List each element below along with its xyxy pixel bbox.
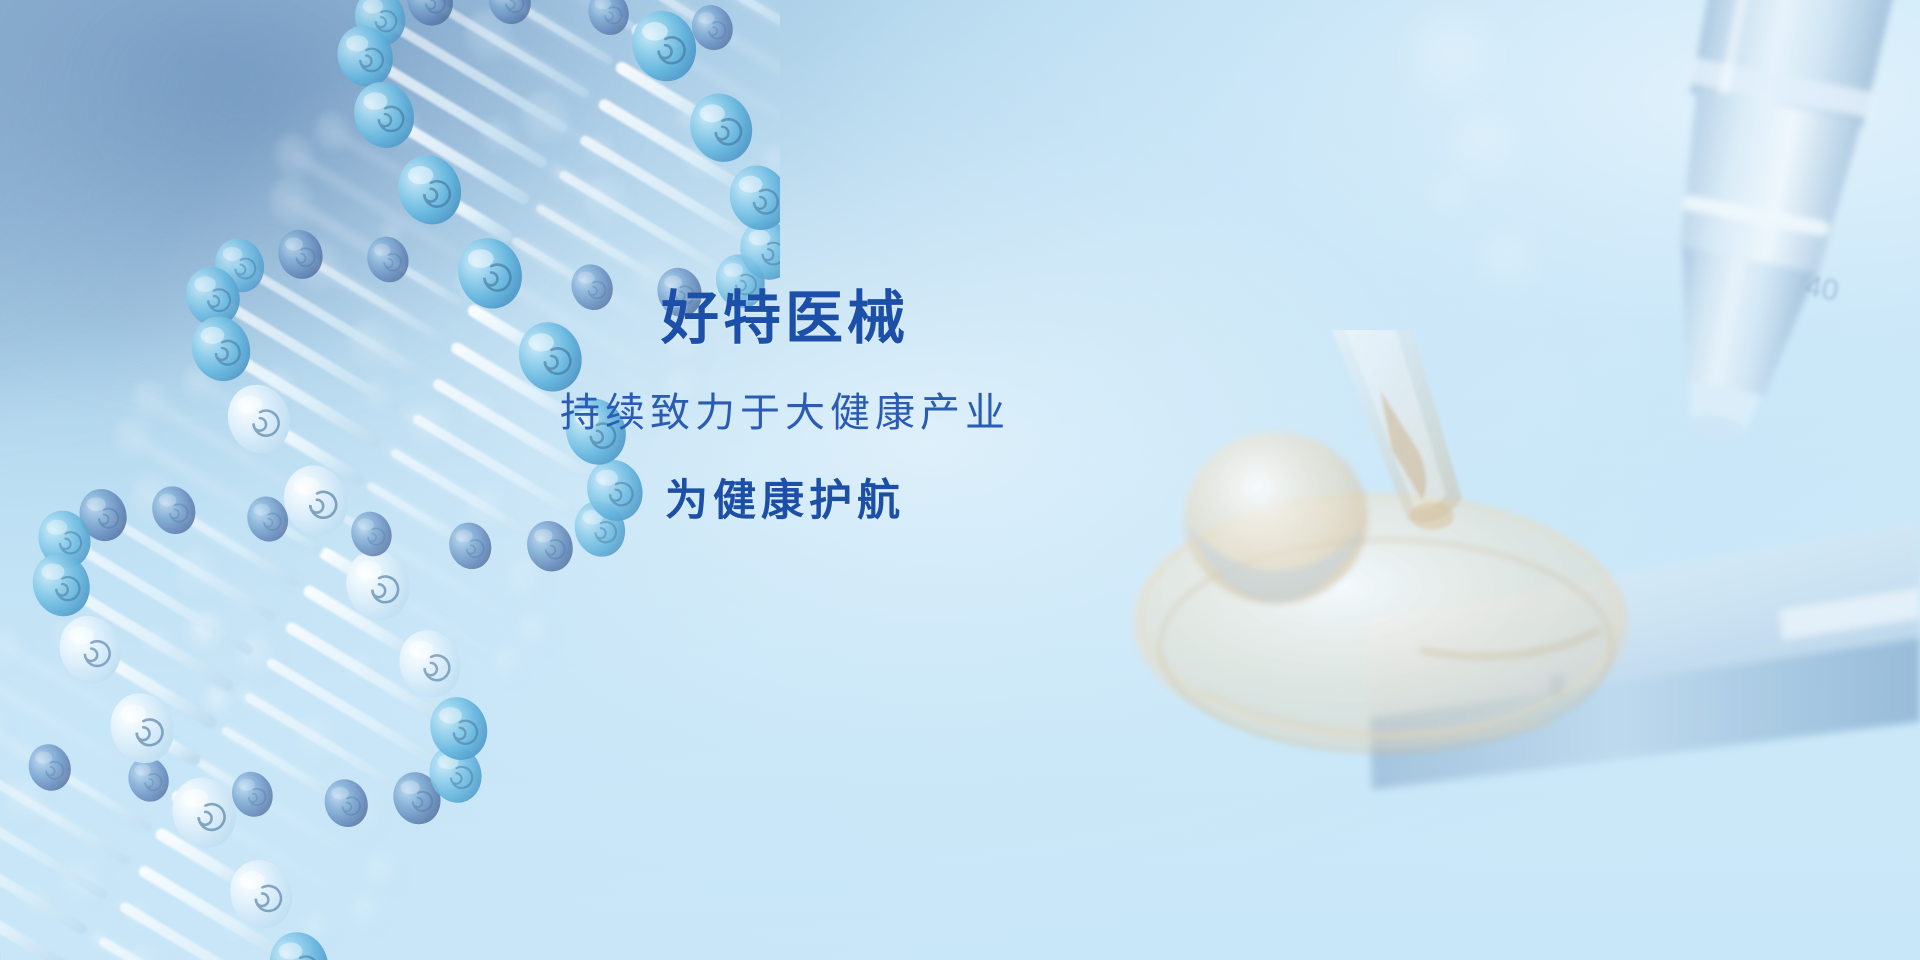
page-title: 好特医械 xyxy=(0,285,1570,353)
hero-text-block: 好特医械 持续致力于大健康产业 为健康护航 xyxy=(0,0,1570,529)
hero-tagline: 为健康护航 xyxy=(0,439,1570,529)
hero-subtitle: 持续致力于大健康产业 xyxy=(0,353,1570,439)
objective-magnification-label: 40 xyxy=(1802,269,1841,308)
hero-banner: 40 xyxy=(0,0,1920,960)
